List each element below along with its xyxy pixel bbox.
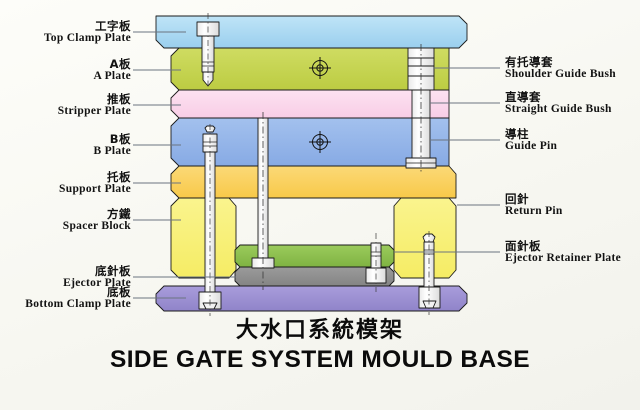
label-spacer-block-en: Spacer Block	[0, 220, 131, 232]
label-spacer-block-cn: 方鐵	[0, 208, 131, 220]
label-ejector-retainer-plate: 面針板 Ejector Retainer Plate	[505, 240, 621, 265]
figure-title-en: SIDE GATE SYSTEM MOULD BASE	[0, 346, 640, 374]
label-bottom-clamp-plate: 底板 Bottom Clamp Plate	[0, 286, 131, 311]
label-shoulder-guide-bush-cn: 有托導套	[505, 56, 616, 68]
label-top-clamp-plate-en: Top Clamp Plate	[0, 32, 131, 44]
label-shoulder-guide-bush-en: Shoulder Guide Bush	[505, 68, 616, 80]
label-stripper-plate-cn: 推板	[0, 93, 131, 105]
label-b-plate-en: B Plate	[0, 145, 131, 157]
label-stripper-plate-en: Stripper Plate	[0, 105, 131, 117]
label-return-pin-cn: 回針	[505, 193, 563, 205]
label-b-plate: B板 B Plate	[0, 133, 131, 158]
label-stripper-plate: 推板 Stripper Plate	[0, 93, 131, 118]
label-return-pin: 回針 Return Pin	[505, 193, 563, 218]
label-a-plate-en: A Plate	[0, 70, 131, 82]
label-spacer-block: 方鐵 Spacer Block	[0, 208, 131, 233]
label-guide-pin: 導柱 Guide Pin	[505, 128, 557, 153]
label-guide-pin-cn: 導柱	[505, 128, 557, 140]
label-top-clamp-plate: 工字板 Top Clamp Plate	[0, 20, 131, 45]
label-support-plate-en: Support Plate	[0, 183, 131, 195]
label-return-pin-en: Return Pin	[505, 205, 563, 217]
label-ejector-retainer-plate-cn: 面針板	[505, 240, 621, 252]
label-support-plate: 托板 Support Plate	[0, 171, 131, 196]
label-bottom-clamp-plate-en: Bottom Clamp Plate	[0, 298, 131, 310]
label-top-clamp-plate-cn: 工字板	[0, 20, 131, 32]
label-straight-guide-bush: 直導套 Straight Guide Bush	[505, 91, 612, 116]
label-guide-pin-en: Guide Pin	[505, 140, 557, 152]
spacer-block-left	[171, 198, 236, 278]
diagram-canvas: 工字板 Top Clamp Plate A板 A Plate 推板 Stripp…	[0, 0, 640, 410]
plate-stripper	[171, 90, 449, 118]
figure-title-cn: 大水口系統模架	[0, 312, 640, 344]
label-straight-guide-bush-cn: 直導套	[505, 91, 612, 103]
label-ejector-retainer-plate-en: Ejector Retainer Plate	[505, 252, 621, 264]
label-b-plate-cn: B板	[0, 133, 131, 145]
label-straight-guide-bush-en: Straight Guide Bush	[505, 103, 612, 115]
label-bottom-clamp-plate-cn: 底板	[0, 286, 131, 298]
label-ejector-plate-cn: 底針板	[0, 265, 131, 277]
figure-title: 大水口系統模架 SIDE GATE SYSTEM MOULD BASE	[0, 312, 640, 374]
label-support-plate-cn: 托板	[0, 171, 131, 183]
label-shoulder-guide-bush: 有托導套 Shoulder Guide Bush	[505, 56, 616, 81]
label-a-plate-cn: A板	[0, 58, 131, 70]
label-a-plate: A板 A Plate	[0, 58, 131, 83]
